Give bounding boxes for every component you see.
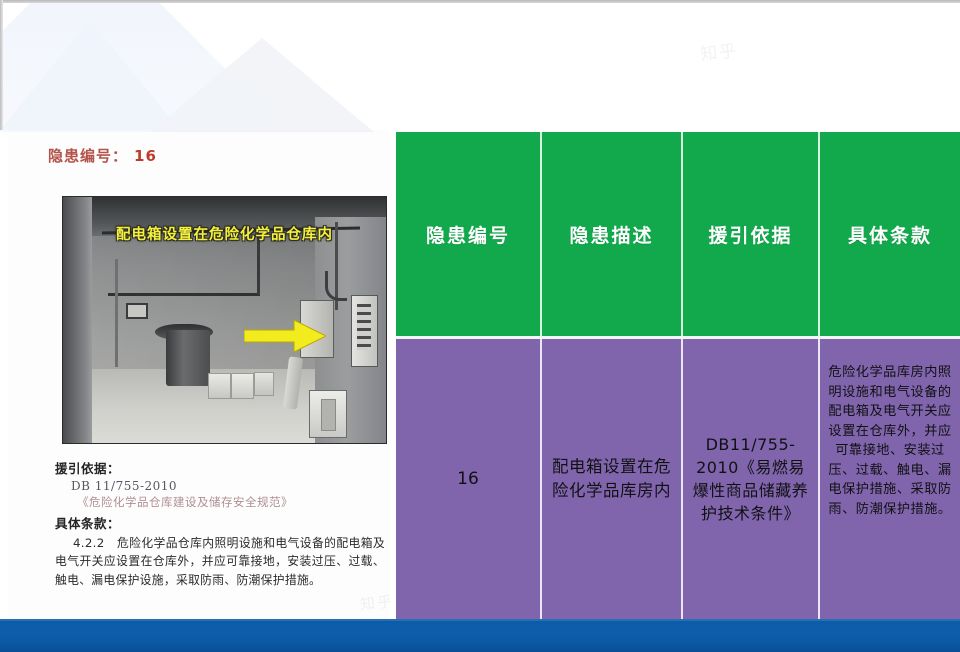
photo-carton-3 xyxy=(254,372,274,396)
photo-carton-2 xyxy=(231,373,254,399)
decoration-triangle-center xyxy=(150,38,374,132)
clause-text: 危险化学品仓库内照明设施和电气设备的配电箱及电气开关应设置在仓库外，并应可靠接地… xyxy=(55,536,385,587)
clause-number: 4.2.2 xyxy=(73,536,105,550)
photo-electrical-switch-panel xyxy=(351,295,378,367)
standard-name: 《危险化学品仓库建设及储存安全规范》 xyxy=(77,494,385,510)
photo-chemical-drum xyxy=(166,330,210,386)
table-header-hazard-number: 隐患编号 xyxy=(396,132,540,336)
clause-body: 4.2.2 危险化学品仓库内照明设施和电气设备的配电箱及电气开关应设置在仓库外，… xyxy=(55,534,385,589)
slide-canvas: 知乎 隐患编号：16 配电箱设置在危险化学品仓库内 援引依据 xyxy=(0,0,960,652)
photo-conduit-vertical-left xyxy=(115,259,118,367)
hazard-table: 隐患编号 隐患描述 援引依据 具体条款 16 配电箱设置在危险化学品库房内 DB… xyxy=(396,132,960,619)
photo-conduit-bend xyxy=(325,271,347,301)
photo-distribution-box-lower xyxy=(309,390,347,438)
cell-hazard-description: 配电箱设置在危险化学品库房内 xyxy=(540,339,681,619)
photo-conduit-horizontal-lower xyxy=(108,293,260,296)
case-number-value: 16 xyxy=(134,147,157,165)
table-header-hazard-description: 隐患描述 xyxy=(540,132,681,336)
table-header-specific-clause: 具体条款 xyxy=(818,132,960,336)
left-frame-line xyxy=(0,0,3,130)
slide-decoration xyxy=(0,0,960,132)
cell-hazard-number: 16 xyxy=(396,339,540,619)
cell-specific-clause: 危险化学品库房内照明设施和电气设备的配电箱及电气开关应设置在仓库外，并应可靠接地… xyxy=(818,339,960,619)
standard-code: DB 11/755-2010 xyxy=(71,479,385,493)
bottom-bar-highlight xyxy=(0,619,960,621)
case-number-label-text: 隐患编号： xyxy=(48,147,128,165)
watermark-middle: 知乎 xyxy=(359,590,395,614)
top-frame-line xyxy=(0,0,960,3)
photo-carton-1 xyxy=(208,373,231,399)
cell-reference-basis: DB11/755-2010《易燃易爆性商品储藏养护技术条件》 xyxy=(681,339,818,619)
watermark-top: 知乎 xyxy=(699,36,739,65)
bottom-accent-bar: 知乎 xyxy=(0,619,960,652)
table-row: 16 配电箱设置在危险化学品库房内 DB11/755-2010《易燃易爆性商品储… xyxy=(396,336,960,619)
case-number-label: 隐患编号：16 xyxy=(48,145,157,166)
hazard-photo: 配电箱设置在危险化学品仓库内 xyxy=(62,196,387,444)
table-header-row: 隐患编号 隐患描述 援引依据 具体条款 xyxy=(396,132,960,336)
photo-pointer-arrow xyxy=(244,318,326,354)
photo-wall-outlet-box xyxy=(126,303,148,319)
reference-text-block: 援引依据： DB 11/755-2010 《危险化学品仓库建设及储存安全规范》 … xyxy=(55,458,385,589)
table-header-reference-basis: 援引依据 xyxy=(681,132,818,336)
basis-heading: 援引依据： xyxy=(55,458,385,477)
clause-heading: 具体条款： xyxy=(55,513,385,532)
photo-caption: 配电箱设置在危险化学品仓库内 xyxy=(63,223,386,244)
